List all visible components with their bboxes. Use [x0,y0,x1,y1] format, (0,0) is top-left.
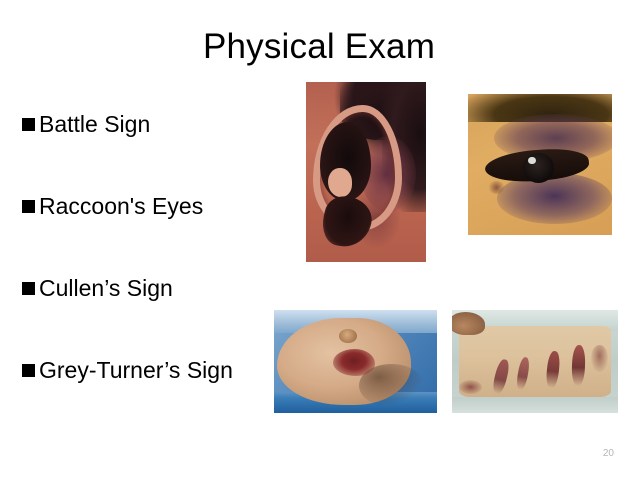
bullet-item-raccoons-eyes: Raccoon's Eyes [22,192,290,274]
bullet-item-grey-turners-sign: Grey-Turner’s Sign [22,356,290,438]
bullet-item-battle-sign: Battle Sign [22,110,290,192]
square-bullet-icon [22,118,35,131]
page-title: Physical Exam [0,26,638,68]
square-bullet-icon [22,282,35,295]
bullet-item-label: Battle Sign [39,110,150,139]
raccoon-eyes-photo [468,94,612,235]
surgical-drape [452,397,618,413]
ear-tragus [328,168,352,197]
cullens-sign-photo [274,310,437,413]
bullet-item-label: Raccoon's Eyes [39,192,203,221]
arm-region [452,312,485,335]
grey-turner-sign-photo [452,310,618,413]
eye-iris [523,153,555,183]
square-bullet-icon [22,200,35,213]
square-bullet-icon [22,364,35,377]
page-number: 20 [603,448,614,459]
periumbilical-bruise [333,349,375,376]
battle-sign-photo [306,82,426,262]
flank-ecchymosis [591,345,608,372]
umbilicus [339,329,357,343]
bullet-item-cullens-sign: Cullen’s Sign [22,274,290,356]
bullet-item-label: Grey-Turner’s Sign [39,356,233,385]
slide: Physical Exam Battle Sign Raccoon's Eyes… [0,0,638,479]
bullet-item-label: Cullen’s Sign [39,274,173,303]
bullet-list: Battle Sign Raccoon's Eyes Cullen’s Sign… [22,110,290,438]
